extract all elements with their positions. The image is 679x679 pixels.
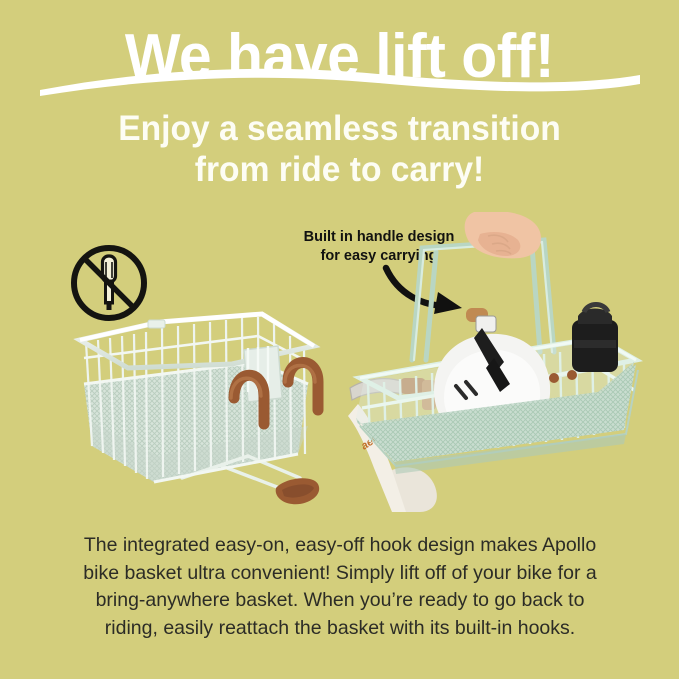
body-copy-line-1: The integrated easy-on, easy-off hook de… [46,532,634,560]
headline-block: We have lift off! [0,26,679,88]
subheadline-line-1: Enjoy a seamless transition [14,108,666,149]
body-copy-line-3: bring-anywhere basket. When you’re ready… [46,587,634,615]
subheadline-line-2: from ride to carry! [14,149,666,190]
page-title: We have lift off! [17,26,662,88]
body-copy-line-4: riding, easily reattach the basket with … [46,615,634,643]
basket-detached-photo [62,306,342,511]
subheadline: Enjoy a seamless transition from ride to… [14,108,666,190]
basket-on-bike-photo: aerospec [348,212,644,512]
body-copy-line-2: bike basket ultra convenient! Simply lif… [46,560,634,588]
body-copy: The integrated easy-on, easy-off hook de… [46,532,634,642]
promo-graphic: We have lift off! Enjoy a seamless trans… [0,0,679,679]
